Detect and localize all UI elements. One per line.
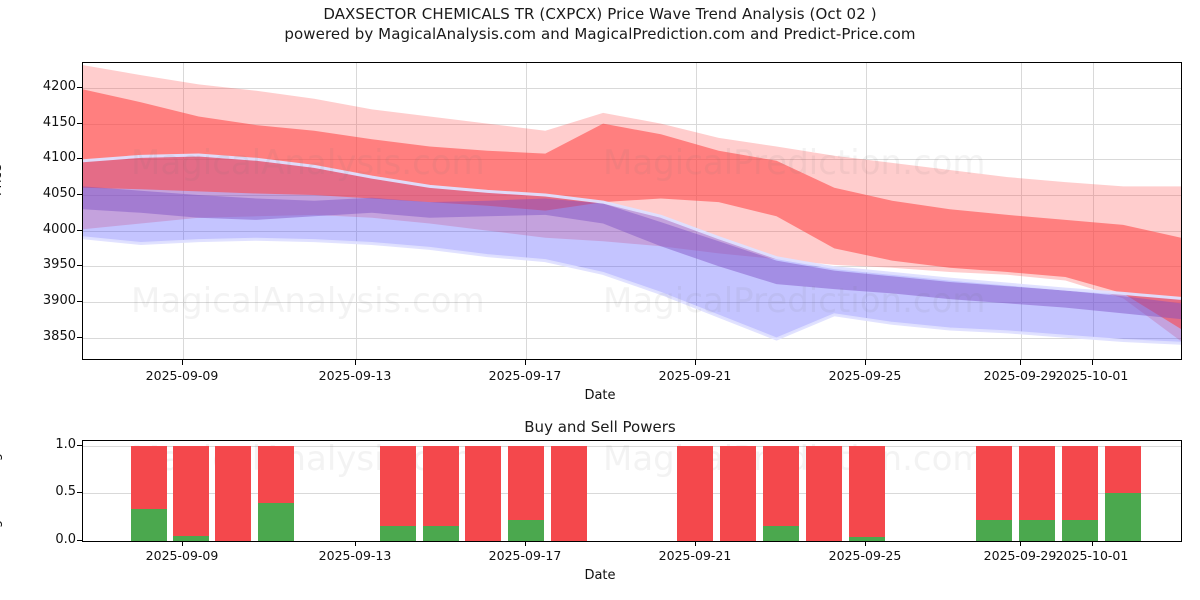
- signal-bar-sell-segment: [976, 446, 1012, 520]
- signal-bar-buy-segment: [380, 526, 416, 541]
- signal-bar: [508, 441, 544, 541]
- signal-bar-buy-segment: [1105, 493, 1141, 541]
- signal-y-tick-label: 0.0: [16, 532, 76, 547]
- signal-bar-sell-segment: [131, 446, 167, 509]
- signal-bar-buy-segment: [173, 536, 209, 541]
- price-x-tick-label: 2025-09-09: [146, 368, 219, 383]
- signal-bar-sell-segment: [1062, 446, 1098, 520]
- signal-x-tick-label: 2025-09-29: [984, 548, 1057, 563]
- signal-x-tick-label: 2025-09-13: [319, 548, 392, 563]
- signal-x-tick-label: 2025-10-01: [1056, 548, 1129, 563]
- signal-bar: [677, 441, 713, 541]
- signal-bar-sell-segment: [215, 446, 251, 541]
- signal-bar: [849, 441, 885, 541]
- signal-bar: [763, 441, 799, 541]
- signal-x-tick-label: 2025-09-21: [659, 548, 732, 563]
- signal-bar-sell-segment: [465, 446, 501, 541]
- price-x-tick-label: 2025-09-29: [984, 368, 1057, 383]
- price-x-tick-label: 2025-09-13: [319, 368, 392, 383]
- price-y-tick-label: 4150: [16, 115, 76, 130]
- signal-bar: [131, 441, 167, 541]
- signal-bar-sell-segment: [720, 446, 756, 541]
- signal-bar: [1062, 441, 1098, 541]
- signal-bar-sell-segment: [380, 446, 416, 526]
- price-y-tick-label: 4200: [16, 79, 76, 94]
- price-y-tick-label: 3900: [16, 293, 76, 308]
- signal-bar: [1019, 441, 1055, 541]
- signal-bar: [423, 441, 459, 541]
- price-y-tick-label: 4100: [16, 150, 76, 165]
- price-x-tick-label: 2025-09-25: [829, 368, 902, 383]
- price-x-tick-mark: [695, 360, 696, 365]
- signal-bar: [976, 441, 1012, 541]
- signal-y-tick-label: 1.0: [16, 437, 76, 452]
- price-axis-label: Price: [0, 164, 5, 196]
- signal-bar: [1105, 441, 1141, 541]
- page-title: DAXSECTOR CHEMICALS TR (CXPCX) Price Wav…: [0, 4, 1200, 24]
- signal-bar-sell-segment: [508, 446, 544, 520]
- signal-bar-sell-segment: [423, 446, 459, 526]
- chart-page: DAXSECTOR CHEMICALS TR (CXPCX) Price Wav…: [0, 0, 1200, 600]
- signal-bar-sell-segment: [677, 446, 713, 541]
- price-y-tick-label: 4000: [16, 222, 76, 237]
- price-y-tick-label: 4050: [16, 186, 76, 201]
- price-x-tick-mark: [865, 360, 866, 365]
- signal-chart-panel: MagicalAnalysis.com MagicalPrediction.co…: [82, 440, 1182, 542]
- signal-bar: [465, 441, 501, 541]
- price-x-tick-mark: [1092, 360, 1093, 365]
- price-x-tick-mark: [182, 360, 183, 365]
- signal-bar-buy-segment: [1019, 520, 1055, 541]
- signal-bar-sell-segment: [806, 446, 842, 541]
- signal-chart-title: Buy and Sell Powers: [0, 418, 1200, 436]
- price-x-tick-mark: [355, 360, 356, 365]
- signal-y-tick-label: 0.5: [16, 484, 76, 499]
- signal-bar-sell-segment: [849, 446, 885, 537]
- signal-x-tick-label: 2025-09-17: [489, 548, 562, 563]
- signal-bar-sell-segment: [258, 446, 294, 503]
- signal-bar: [551, 441, 587, 541]
- signal-bar-buy-segment: [508, 520, 544, 541]
- page-title-block: DAXSECTOR CHEMICALS TR (CXPCX) Price Wav…: [0, 4, 1200, 44]
- signal-x-tick-label: 2025-09-09: [146, 548, 219, 563]
- signal-bar: [380, 441, 416, 541]
- signal-bar: [720, 441, 756, 541]
- price-x-axis-label: Date: [0, 388, 1200, 403]
- signal-bar: [173, 441, 209, 541]
- signal-bar-sell-segment: [1105, 446, 1141, 494]
- signal-bar-sell-segment: [551, 446, 587, 541]
- signal-bar-sell-segment: [1019, 446, 1055, 520]
- signal-bar: [806, 441, 842, 541]
- signal-bar-buy-segment: [976, 520, 1012, 541]
- price-x-tick-mark: [525, 360, 526, 365]
- price-chart-panel: MagicalAnalysis.com MagicalPrediction.co…: [82, 62, 1182, 360]
- signal-bar-buy-segment: [1062, 520, 1098, 541]
- signal-bar-sell-segment: [173, 446, 209, 536]
- signal-bar-buy-segment: [763, 526, 799, 541]
- price-wave-bands: [83, 63, 1181, 359]
- page-subtitle: powered by MagicalAnalysis.com and Magic…: [0, 24, 1200, 44]
- signal-bar: [258, 441, 294, 541]
- price-x-tick-label: 2025-09-17: [489, 368, 562, 383]
- price-x-tick-label: 2025-10-01: [1056, 368, 1129, 383]
- price-x-tick-label: 2025-09-21: [659, 368, 732, 383]
- signal-bar-buy-segment: [131, 509, 167, 541]
- signal-bar-sell-segment: [763, 446, 799, 526]
- price-y-tick-label: 3950: [16, 257, 76, 272]
- signal-x-tick-label: 2025-09-25: [829, 548, 902, 563]
- signal-x-axis-label: Date: [0, 568, 1200, 583]
- signal-axis-label: Signal Strength: [0, 440, 3, 540]
- signal-bar-buy-segment: [258, 503, 294, 541]
- price-y-tick-label: 3850: [16, 329, 76, 344]
- price-x-tick-mark: [1020, 360, 1021, 365]
- signal-bar-buy-segment: [423, 526, 459, 541]
- signal-bar-buy-segment: [849, 537, 885, 541]
- signal-bar: [215, 441, 251, 541]
